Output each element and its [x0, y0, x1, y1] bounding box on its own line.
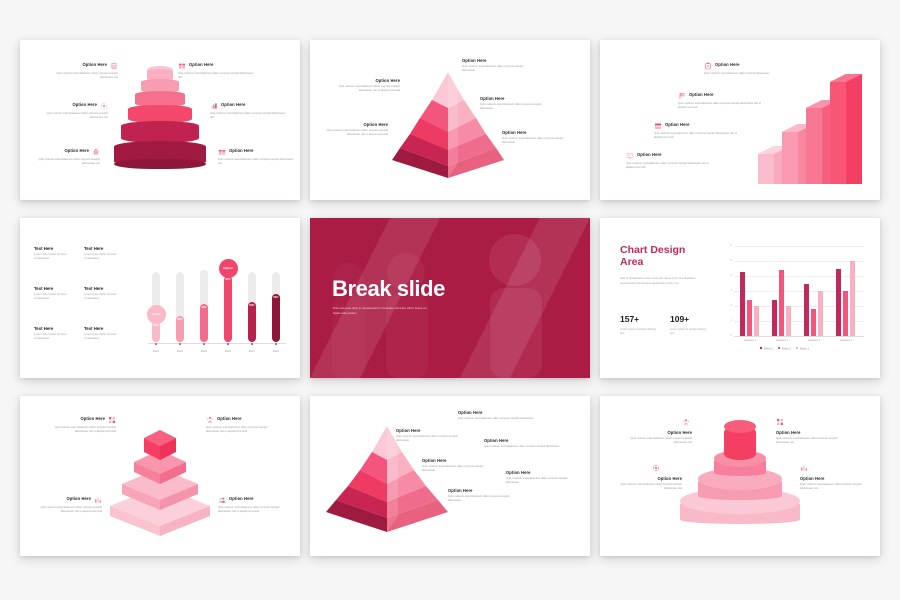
option-block[interactable]: Option Here Quis nostrum exercitationem …	[48, 416, 116, 434]
bar-series1-cat3[interactable]	[804, 284, 809, 337]
option-block[interactable]: Option Here Quis nostrum exercitationem …	[462, 58, 534, 73]
x-tick-label: Category 1	[734, 339, 766, 342]
option-body: Quis nostrum exercitationem ullam corpor…	[318, 129, 388, 137]
text-body: Lorem ipsum dolor sit amet consectetuer	[34, 333, 78, 341]
option-body: Quis nostrum exercitationem ullam corpor…	[502, 137, 574, 145]
slide-chart-design-area[interactable]: Chart Design Area Sed ut perspiciatis un…	[600, 218, 880, 378]
text-body: Lorem ipsum dolor sit amet consectetuer	[84, 293, 128, 301]
option-block[interactable]: Option Here Quis nostrum exercitationem …	[458, 410, 536, 421]
option-body: Quis nostrum exercitationem ullam corpor…	[206, 426, 278, 434]
option-title: Option Here	[480, 96, 552, 101]
option-title: Option Here	[330, 78, 400, 83]
bar-series3-cat3[interactable]	[818, 291, 823, 336]
option-block[interactable]: Option Here Quis nostrum exercitationem …	[624, 430, 692, 445]
option-block[interactable]: Option Here Quis nostrum exercitationem …	[800, 476, 870, 491]
legend-item-series1[interactable]: Series 1	[760, 347, 773, 350]
slide-pyramid-5[interactable]: Option Here Quis nostrum exercitationem …	[310, 40, 590, 200]
bar-series3-cat1[interactable]	[754, 306, 759, 336]
clipboard-icon	[704, 62, 712, 70]
option-body: Quis nostrum exercitationem ullam corpor…	[776, 437, 846, 445]
option-block[interactable]: Option Here Quis nostrum exercitationem …	[654, 122, 738, 140]
x-tick-label: 2018	[269, 350, 283, 353]
option-title: Option Here	[637, 152, 662, 157]
option-title: Option Here	[448, 488, 520, 493]
option-body: Quis nostrum exercitationem ullam corpor…	[614, 483, 682, 491]
option-body: Quis nostrum exercitationem ullam corpor…	[422, 465, 494, 473]
bar-series1-cat4[interactable]	[836, 269, 841, 337]
option-block[interactable]: Option Here Quis nostrum exercitationem …	[178, 62, 256, 80]
stat-caption: Lorem ipsum is simply dummy text	[620, 328, 658, 337]
x-tick-label: 2017	[245, 350, 259, 353]
option-title: Option Here	[396, 428, 468, 433]
option-title: Option Here	[614, 476, 682, 481]
option-title: Option Here	[422, 458, 494, 463]
text-title: Text Here	[84, 246, 128, 251]
option-title: Option Here	[715, 62, 740, 67]
bar-series1-cat1[interactable]	[740, 272, 745, 337]
description-text: Sed ut perspiciatis unde omnis iste natu…	[620, 276, 705, 286]
bar-value: 58%	[273, 296, 278, 299]
bar-series1-cat2[interactable]	[772, 300, 777, 336]
bar-series2-cat4[interactable]	[843, 291, 848, 336]
step-pyramid-chart	[104, 420, 216, 541]
option-title: Option Here	[66, 496, 91, 501]
legend-item-series2[interactable]: Series 2	[778, 347, 791, 350]
option-block[interactable]: Option Here Quis nostrum exercitationem …	[480, 96, 552, 111]
slide-capsule-bars[interactable]: Text Here Lorem ipsum dolor sit amet con…	[20, 218, 300, 378]
text-block[interactable]: Text Here Lorem ipsum dolor sit amet con…	[84, 326, 128, 341]
legend-label: Series 3	[800, 347, 809, 350]
bar-series2-cat1[interactable]	[747, 300, 752, 336]
y-tick-label: 3	[724, 289, 732, 292]
chart-legend: Series 1 Series 2 Series 3	[760, 347, 809, 350]
option-block[interactable]: Option Here Quis nostrum exercitationem …	[422, 458, 494, 473]
option-body: Quis nostrum exercitationem ullam corpor…	[178, 72, 256, 80]
option-block[interactable]: Option Here Quis nostrum exercitationem …	[34, 102, 108, 120]
text-block[interactable]: Text Here Lorem ipsum dolor sit amet con…	[34, 246, 78, 261]
network-icon	[100, 102, 108, 110]
grid-icon	[776, 418, 784, 426]
box-icon	[178, 62, 186, 70]
option-title: Option Here	[502, 130, 574, 135]
option-body: Quis nostrum exercitationem ullam corpor…	[396, 435, 468, 443]
option-body: Quis nostrum exercitationem ullam corpor…	[26, 158, 100, 166]
annotation-label: Lowest	[152, 313, 161, 316]
option-title: Option Here	[458, 410, 536, 415]
y-tick-label: 6	[724, 244, 732, 247]
capsule-bar[interactable]: 30%	[176, 272, 184, 342]
option-block[interactable]: Option Here Quis nostrum exercitationem …	[448, 488, 520, 503]
option-body: Quis nostrum exercitationem ullam corpor…	[48, 426, 116, 434]
flag-icon	[678, 92, 686, 100]
text-body: Lorem ipsum dolor sit amet consectetuer	[34, 253, 78, 261]
stat-value: 109+	[670, 314, 689, 324]
option-block[interactable]: Option Here Quis nostrum exercitationem …	[34, 496, 102, 514]
option-body: Quis nostrum exercitationem ullam corpor…	[330, 85, 400, 93]
option-title: Option Here	[229, 148, 254, 153]
bag-icon	[92, 148, 100, 156]
option-title: Option Here	[64, 148, 89, 153]
option-body: Quis nostrum exercitationem ullam corpor…	[506, 477, 580, 485]
option-title: Option Here	[800, 476, 870, 481]
option-block[interactable]: Option Here Quis nostrum exercitationem …	[704, 62, 776, 76]
annotation-label: Highest	[223, 267, 232, 270]
y-tick-label: 2	[724, 304, 732, 307]
y-tick-label: 5	[724, 259, 732, 262]
pyramid-chart	[388, 70, 508, 180]
option-block[interactable]: Option Here Quis nostrum exercitationem …	[210, 102, 288, 120]
capsule-bar[interactable]: 45%	[200, 270, 208, 342]
option-block[interactable]: Option Here Quis nostrum exercitationem …	[502, 130, 574, 145]
text-title: Text Here	[84, 326, 128, 331]
capsule-bar[interactable]: 80%	[224, 268, 232, 342]
bar3d-chart	[756, 66, 866, 191]
stat-caption: Lorem ipsum is simply dummy text	[670, 328, 708, 337]
y-tick-label: 1	[724, 319, 732, 322]
bars-icon	[800, 464, 808, 472]
text-title: Text Here	[34, 246, 78, 251]
x-tick-label: 2015	[197, 350, 211, 353]
option-title: Option Here	[229, 496, 254, 501]
calculator-icon	[110, 62, 118, 70]
capsule-bar-chart: 20% Lowest 2013 30% 2014 45% 2015	[144, 234, 288, 364]
slide-3d-bars[interactable]: Option Here Quis nostrum exercitationem …	[600, 40, 880, 200]
option-title: Option Here	[689, 92, 714, 97]
slide-break[interactable]: Break slide Duis aute irure dolor in rep…	[310, 218, 590, 378]
option-block[interactable]: Option Here Quis nostrum exercitationem …	[206, 416, 278, 434]
option-body: Quis nostrum exercitationem ullam corpor…	[34, 506, 102, 514]
legend-label: Series 1	[764, 347, 773, 350]
text-block[interactable]: Text Here Lorem ipsum dolor sit amet con…	[34, 326, 78, 341]
option-block[interactable]: Option Here Quis nostrum exercitationem …	[776, 430, 846, 445]
grouped-bar-chart: 6 5 4 3 2 1 0	[724, 242, 866, 354]
option-body: Quis nostrum exercitationem ullam corpor…	[654, 132, 738, 140]
option-body: Quis nostrum exercitationem ullam corpor…	[44, 72, 118, 80]
stat-value: 157+	[620, 314, 639, 324]
option-block[interactable]: Option Here Quis nostrum exercitationem …	[506, 470, 580, 485]
capsule-bar[interactable]: 50%	[248, 272, 256, 342]
option-title: Option Here	[318, 122, 388, 127]
option-title: Option Here	[80, 416, 105, 421]
people-icon	[682, 418, 690, 426]
chart-icon	[210, 102, 218, 110]
y-tick-label: 4	[724, 274, 732, 277]
option-title: Option Here	[665, 122, 690, 127]
option-block[interactable]: Option Here Quis nostrum exercitationem …	[318, 122, 388, 137]
slide-cylinder-stack[interactable]: Option Here Quis nostrum exercitationem …	[600, 396, 880, 556]
option-title: Option Here	[462, 58, 534, 63]
option-body: Quis nostrum exercitationem ullam corpor…	[34, 112, 108, 120]
option-block[interactable]: Option Here Quis nostrum exercitationem …	[218, 496, 290, 514]
break-subtitle: Duis aute irure dolor in reprehenderit i…	[333, 306, 428, 316]
text-block[interactable]: Text Here Lorem ipsum dolor sit amet con…	[84, 286, 128, 301]
asterisk-icon	[652, 464, 660, 472]
slide-pyramid-left[interactable]: Option Here Quis nostrum exercitationem …	[310, 396, 590, 556]
page-title: Chart Design Area	[620, 244, 700, 269]
text-title: Text Here	[34, 326, 78, 331]
legend-label: Series 2	[782, 347, 791, 350]
bar-series3-cat4[interactable]	[850, 261, 855, 336]
bar-value: 45%	[201, 306, 206, 309]
option-title: Option Here	[217, 416, 242, 421]
slide-deck-grid: Option Here Quis nostrum exercitationem …	[0, 0, 900, 600]
text-block[interactable]: Text Here Lorem ipsum dolor sit amet con…	[34, 286, 78, 301]
option-block[interactable]: Option Here Quis nostrum exercitationem …	[678, 92, 762, 110]
slide-cone-infographic[interactable]: Option Here Quis nostrum exercitationem …	[20, 40, 300, 200]
option-body: Quis nostrum exercitationem ullam corpor…	[800, 483, 870, 491]
break-title: Break slide	[332, 276, 445, 302]
option-block[interactable]: Option Here Quis nostrum exercitationem …	[44, 62, 118, 80]
text-title: Text Here	[84, 286, 128, 291]
grid-icon	[108, 416, 116, 424]
bars-icon	[94, 496, 102, 504]
bar-value: 20%	[153, 324, 158, 327]
x-tick-label: 2014	[173, 350, 187, 353]
option-body: Quis nostrum exercitationem ullam corpor…	[218, 158, 296, 166]
annotation-pin-highest[interactable]: Highest	[219, 259, 238, 278]
option-title: Option Here	[72, 102, 97, 107]
gift-icon	[218, 148, 226, 156]
option-block[interactable]: Option Here Quis nostrum exercitationem …	[626, 152, 710, 170]
text-body: Lorem ipsum dolor sit amet consectetuer	[34, 293, 78, 301]
bar-value: 80%	[225, 278, 230, 281]
y-tick-label: 0	[724, 334, 732, 337]
option-body: Quis nostrum exercitationem ullam corpor…	[626, 162, 710, 170]
people-icon	[206, 416, 214, 424]
annotation-pin-lowest[interactable]: Lowest	[147, 305, 166, 324]
text-body: Lorem ipsum dolor sit amet consectetuer	[84, 333, 128, 341]
option-block[interactable]: Option Here Quis nostrum exercitationem …	[484, 438, 562, 449]
slide-step-pyramid[interactable]: Option Here Quis nostrum exercitationem …	[20, 396, 300, 556]
x-tick-label: Category 2	[766, 339, 798, 342]
monitor-icon	[626, 152, 634, 160]
option-title: Option Here	[667, 430, 692, 435]
option-body: Quis nostrum exercitationem ullam corpor…	[218, 506, 290, 514]
option-block[interactable]: Option Here Quis nostrum exercitationem …	[396, 428, 468, 443]
x-tick-label: 2013	[149, 350, 163, 353]
bar-series2-cat2[interactable]	[779, 270, 784, 336]
option-body: Quis nostrum exercitationem ullam corpor…	[484, 445, 562, 449]
cone-chart	[105, 64, 215, 184]
option-block[interactable]: Option Here Quis nostrum exercitationem …	[614, 476, 682, 491]
calendar-icon	[654, 122, 662, 130]
option-block[interactable]: Option Here Quis nostrum exercitationem …	[330, 78, 400, 93]
bar-value: 30%	[177, 318, 182, 321]
option-title: Option Here	[82, 62, 107, 67]
option-title: Option Here	[776, 430, 846, 435]
option-body: Quis nostrum exercitationem ullam corpor…	[678, 102, 762, 110]
option-body: Quis nostrum exercitationem ullam corpor…	[448, 495, 520, 503]
text-title: Text Here	[34, 286, 78, 291]
x-tick-label: Category 3	[798, 339, 830, 342]
option-title: Option Here	[189, 62, 214, 67]
option-body: Quis nostrum exercitationem ullam corpor…	[210, 112, 288, 120]
x-tick-label: 2016	[221, 350, 235, 353]
option-body: Quis nostrum exercitationem ullam corpor…	[458, 417, 536, 421]
group-icon	[218, 496, 226, 504]
legend-item-series3[interactable]: Series 3	[796, 347, 809, 350]
option-body: Quis nostrum exercitationem ullam corpor…	[624, 437, 692, 445]
capsule-bar[interactable]: 58%	[272, 272, 280, 342]
bar-series2-cat3[interactable]	[811, 309, 816, 336]
option-block[interactable]: Option Here Quis nostrum exercitationem …	[218, 148, 296, 166]
option-block[interactable]: Option Here Quis nostrum exercitationem …	[26, 148, 100, 166]
option-title: Option Here	[221, 102, 246, 107]
text-block[interactable]: Text Here Lorem ipsum dolor sit amet con…	[84, 246, 128, 261]
option-body: Quis nostrum exercitationem ullam corpor…	[462, 65, 534, 73]
bar-series3-cat2[interactable]	[786, 306, 791, 336]
text-body: Lorem ipsum dolor sit amet consectetuer	[84, 253, 128, 261]
option-body: Quis nostrum exercitationem ullam corpor…	[480, 103, 552, 111]
option-body: Quis nostrum exercitationem ullam corpor…	[704, 72, 776, 76]
bar-value: 50%	[249, 304, 254, 307]
option-title: Option Here	[484, 438, 562, 443]
x-tick-label: Category 4	[830, 339, 862, 342]
option-title: Option Here	[506, 470, 580, 475]
